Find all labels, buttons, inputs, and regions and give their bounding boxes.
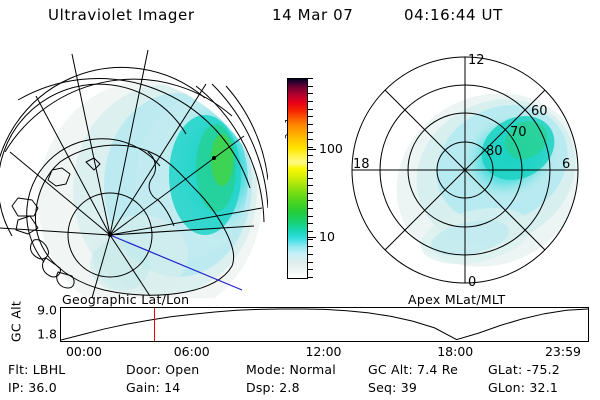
colorbar-minor-tick (307, 116, 313, 117)
status-field: Seq: 39 (368, 380, 417, 395)
mlt-spokes (352, 57, 578, 283)
colorbar-minor-tick (307, 139, 313, 140)
colorbar-minor-tick (307, 93, 313, 94)
colorbar-minor-tick (307, 155, 313, 156)
header-bar: Ultraviolet Imager 14 Mar 07 04:16:44 UT (0, 6, 600, 32)
status-field-value: 14 (164, 380, 180, 395)
status-field-label: Gain: (126, 380, 164, 395)
status-field: GC Alt: 7.4 Re (368, 362, 458, 377)
colorbar-minor-tick (307, 147, 313, 148)
geographic-plot (0, 40, 268, 298)
status-field-label: Dsp: (246, 380, 279, 395)
orbit-time-marker[interactable] (154, 308, 155, 341)
colorbar-gradient[interactable] (287, 78, 308, 279)
status-bar: Flt: LBHLDoor: OpenMode: NormalGC Alt: 7… (0, 360, 600, 400)
colorbar-tick-label: 10 (319, 231, 335, 244)
status-field-label: Door: (126, 362, 165, 377)
status-field-value: Open (165, 362, 199, 377)
status-field-value: 32.1 (529, 380, 558, 395)
orbit-ytick-label: 9.0 (37, 303, 57, 318)
apex-plot: 12 6 0 18 60 70 80 (340, 40, 600, 298)
colorbar-minor-tick (307, 223, 313, 224)
mlt-label-6: 6 (562, 157, 570, 172)
status-field-value: 39 (401, 380, 417, 395)
status-field-label: Mode: (246, 362, 289, 377)
colorbar-minor-tick (307, 101, 313, 102)
status-field-value: 2.8 (279, 380, 299, 395)
colorbar-group: photon cm-2s-1 10010 (262, 60, 340, 300)
colorbar-minor-tick (307, 200, 313, 201)
colorbar-major-tick (307, 149, 316, 150)
status-field-label: Seq: (368, 380, 401, 395)
status-field: Door: Open (126, 362, 199, 377)
colorbar-minor-tick (307, 193, 313, 194)
mlat-label-70: 70 (510, 125, 527, 140)
colorbar-minor-tick (307, 231, 313, 232)
page-title: Ultraviolet Imager (48, 6, 195, 24)
apex-panel[interactable]: 12 6 0 18 60 70 80 (340, 40, 600, 298)
status-field: Dsp: 2.8 (246, 380, 300, 395)
colorbar-minor-tick (307, 246, 313, 247)
mlat-label-60: 60 (531, 104, 548, 119)
status-field-label: IP: (8, 380, 28, 395)
status-field: Flt: LBHL (8, 362, 65, 377)
colorbar-minor-tick (307, 124, 313, 125)
orbit-altitude-chart[interactable]: GC Alt 9.01.8 00:0006:0012:0018:0023:59 (0, 300, 600, 358)
colorbar-minor-tick (307, 208, 313, 209)
status-field: GLon: 32.1 (488, 380, 558, 395)
status-field-label: Flt: (8, 362, 33, 377)
colorbar-minor-tick (307, 178, 313, 179)
status-field: Mode: Normal (246, 362, 336, 377)
status-field-label: GC Alt: (368, 362, 417, 377)
colorbar-minor-tick (307, 132, 313, 133)
colorbar-minor-tick (307, 86, 313, 87)
geographic-panel[interactable] (0, 40, 268, 298)
orbit-curve (61, 308, 588, 341)
status-field-value: -75.2 (527, 362, 560, 377)
colorbar-minor-tick (307, 269, 313, 270)
orbit-ylabel: GC Alt (9, 292, 24, 352)
mlt-label-12: 12 (468, 53, 485, 68)
colorbar-major-tick (307, 237, 316, 238)
orbit-xtick-label: 18:00 (437, 344, 473, 359)
mlt-label-18: 18 (353, 157, 370, 172)
colorbar-minor-tick (307, 78, 313, 79)
colorbar-minor-tick (307, 162, 313, 163)
colorbar-minor-tick (307, 254, 313, 255)
observation-date: 14 Mar 07 (272, 6, 353, 24)
colorbar-minor-tick (307, 185, 313, 186)
subsat-marker (212, 156, 216, 160)
status-field-value: 36.0 (28, 380, 57, 395)
colorbar-minor-tick (307, 170, 313, 171)
orbit-xtick-label: 06:00 (174, 344, 210, 359)
colorbar-minor-tick (307, 262, 313, 263)
status-field-label: GLat: (488, 362, 527, 377)
mlat-label-80: 80 (486, 144, 503, 159)
status-field: Gain: 14 (126, 380, 180, 395)
orbit-plot-box (60, 307, 589, 342)
aurora-overlay (366, 61, 600, 298)
orbit-ytick-label: 1.8 (37, 327, 57, 342)
status-field: IP: 36.0 (8, 380, 57, 395)
ultraviolet-imager-window: Ultraviolet Imager 14 Mar 07 04:16:44 UT (0, 0, 600, 400)
observation-time: 04:16:44 UT (404, 6, 503, 24)
orbit-xtick-label: 12:00 (305, 344, 341, 359)
status-field: GLat: -75.2 (488, 362, 560, 377)
status-field-value: LBHL (33, 362, 66, 377)
status-field-value: 7.4 Re (417, 362, 458, 377)
colorbar-minor-tick (307, 109, 313, 110)
orbit-xtick-label: 23:59 (545, 344, 581, 359)
colorbar-minor-tick (307, 239, 313, 240)
colorbar-minor-tick (307, 277, 313, 278)
status-field-value: Normal (289, 362, 335, 377)
colorbar-minor-tick (307, 216, 313, 217)
status-field-label: GLon: (488, 380, 529, 395)
orbit-xtick-label: 00:00 (66, 344, 102, 359)
pole-marker (108, 233, 112, 237)
mlt-label-0: 0 (468, 275, 476, 290)
